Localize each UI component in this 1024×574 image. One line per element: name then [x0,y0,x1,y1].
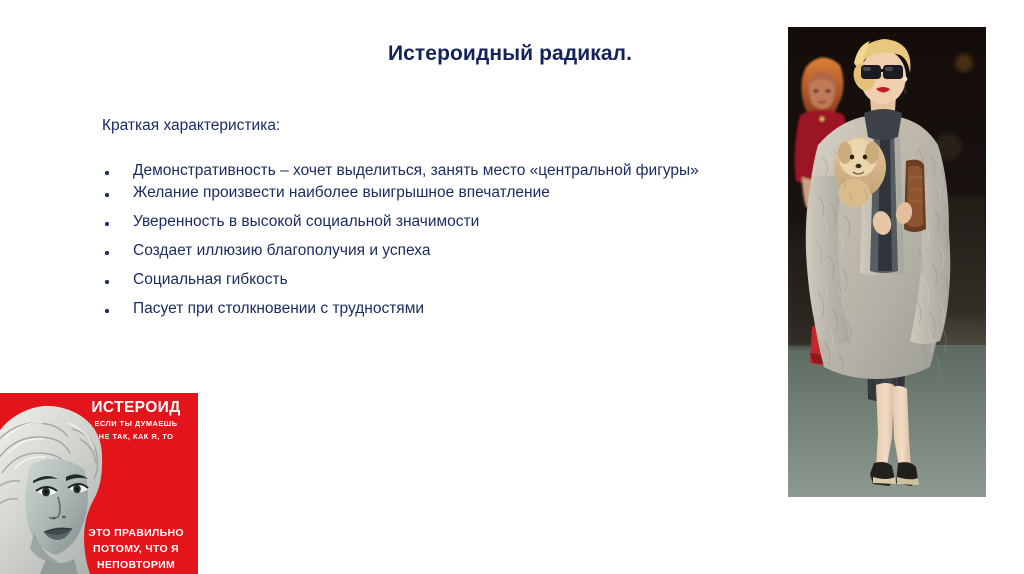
list-item-label: Демонстративность – хочет выделиться, за… [133,163,699,179]
list-item: Уверенность в высокой социальной значимо… [102,214,792,243]
photo-illustration [788,27,986,497]
list-item-label: Уверенность в высокой социальной значимо… [133,214,479,230]
bullet-dot-icon [105,171,109,175]
page-title-text: Истероидный радикал. [388,42,632,65]
woman-in-fur-coat-with-dog-photo [788,27,986,497]
bullet-dot-icon [105,193,109,197]
bullet-dot-icon [105,309,109,313]
poster-line-6: НЕПОВТОРИМ [97,559,175,571]
poster-line-3: НЕ ТАК, КАК Я, ТО [99,432,174,441]
list-item: Создает иллюзию благополучия и успеха [102,243,792,272]
slide-canvas: Истероидный радикал. Краткая характерист… [0,0,1024,574]
bullet-dot-icon [105,251,109,255]
bullet-dot-icon [105,280,109,284]
list-item: Демонстративность – хочет выделиться, за… [102,163,792,185]
characteristics-list: Демонстративность – хочет выделиться, за… [102,163,792,330]
list-item-label: Желание произвести наиболее выигрышное в… [133,185,550,201]
list-item-label: Пасует при столкновении с трудностями [133,301,424,317]
poster-line-2: ЕСЛИ ТЫ ДУМАЕШЬ [94,419,177,428]
list-item: Пасует при столкновении с трудностями [102,301,792,330]
list-item-label: Социальная гибкость [133,272,288,288]
list-item-label: Создает иллюзию благополучия и успеха [133,243,431,259]
poster-illustration: ИСТЕРОИД ЕСЛИ ТЫ ДУМАЕШЬ НЕ ТАК, КАК Я, … [0,393,198,574]
bullet-dot-icon [105,222,109,226]
list-item: Желание произвести наиболее выигрышное в… [102,185,792,214]
poster-line-5: ПОТОМУ, ЧТО Я [93,543,179,555]
poster-line-4: ЭТО ПРАВИЛЬНО [88,527,184,539]
isteroid-poster: ИСТЕРОИД ЕСЛИ ТЫ ДУМАЕШЬ НЕ ТАК, КАК Я, … [0,393,198,574]
list-item: Социальная гибкость [102,272,792,301]
poster-headline: ИСТЕРОИД [91,399,180,416]
lead-label: Краткая характеристика: [102,117,280,135]
